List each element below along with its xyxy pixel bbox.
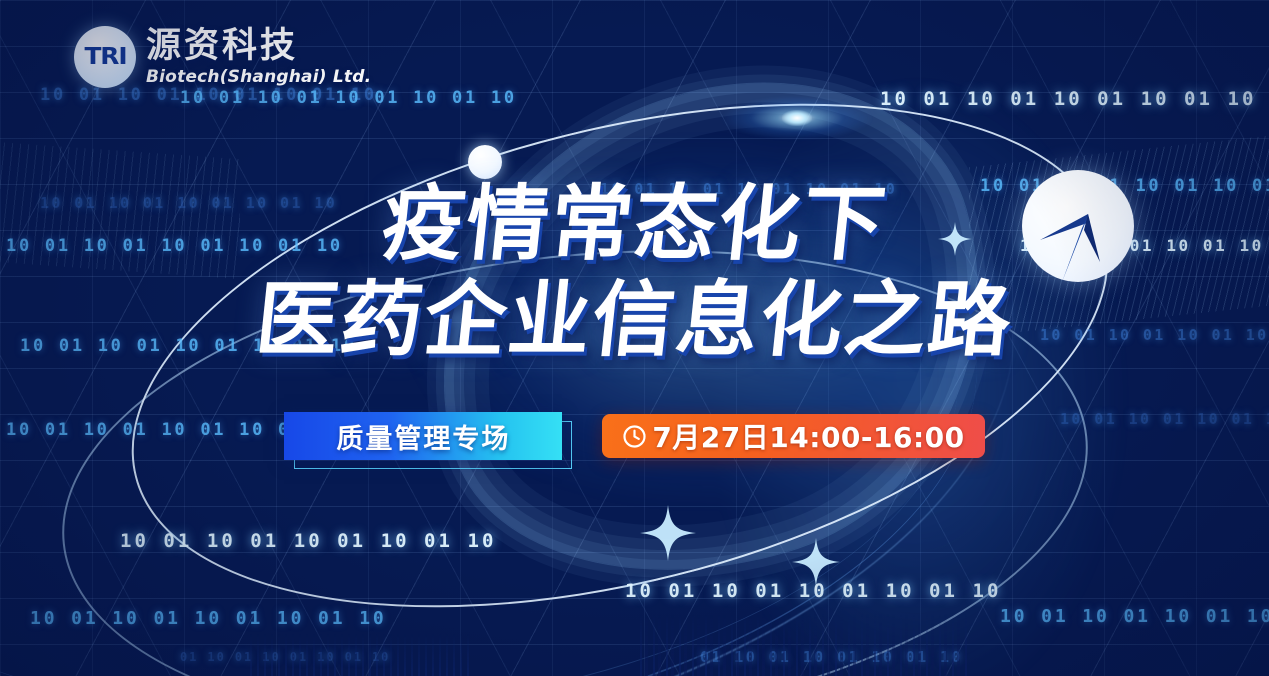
brand-logo-text: 源资科技 Biotech(Shanghai) Ltd. — [146, 29, 371, 86]
company-name-cn: 源资科技 — [146, 29, 371, 64]
lens-flare-core — [782, 110, 812, 126]
headline-line-1: 疫情常态化下 — [0, 182, 1269, 267]
session-badge-holder: 质量管理专场 — [284, 412, 562, 460]
date-time-badge[interactable]: 7月27日14:00-16:00 — [602, 414, 984, 458]
clock-icon — [622, 424, 647, 449]
brand-logo: TRI 源资科技 Biotech(Shanghai) Ltd. — [74, 26, 371, 88]
session-badge[interactable]: 质量管理专场 — [284, 412, 562, 460]
binary-row: 10 01 10 01 10 01 10 01 10 — [30, 608, 387, 629]
binary-row: 10 01 10 01 10 01 10 01 10 — [120, 530, 496, 552]
webinar-poster: 10 01 10 01 10 01 10 01 1010 01 10 01 10… — [0, 0, 1269, 676]
bottom-bar-pattern — [640, 614, 970, 676]
headline-line-2: 医药企业信息化之路 — [0, 277, 1269, 366]
bottom-bar-pattern-2 — [250, 634, 470, 676]
binary-row: 10 01 10 01 10 01 10 01 10 — [1000, 606, 1269, 627]
four-point-star-icon — [792, 538, 840, 586]
orbit-node-dot — [468, 145, 502, 179]
binary-row: 10 01 10 01 10 01 10 01 10 — [180, 88, 517, 108]
binary-row: 10 01 10 01 10 01 10 01 10 — [880, 88, 1256, 110]
company-name-en: Biotech(Shanghai) Ltd. — [146, 69, 371, 86]
logo-mark-text: TRI — [84, 44, 126, 70]
cta-row: 质量管理专场 7月27日14:00-16:00 — [0, 412, 1269, 460]
date-time-text: 7月27日14:00-16:00 — [652, 416, 964, 456]
page-title: 疫情常态化下 医药企业信息化之路 — [0, 182, 1269, 366]
four-point-star-icon — [640, 505, 696, 561]
tri-circle-logo: TRI — [74, 26, 136, 88]
session-badge-label: 质量管理专场 — [336, 417, 510, 456]
